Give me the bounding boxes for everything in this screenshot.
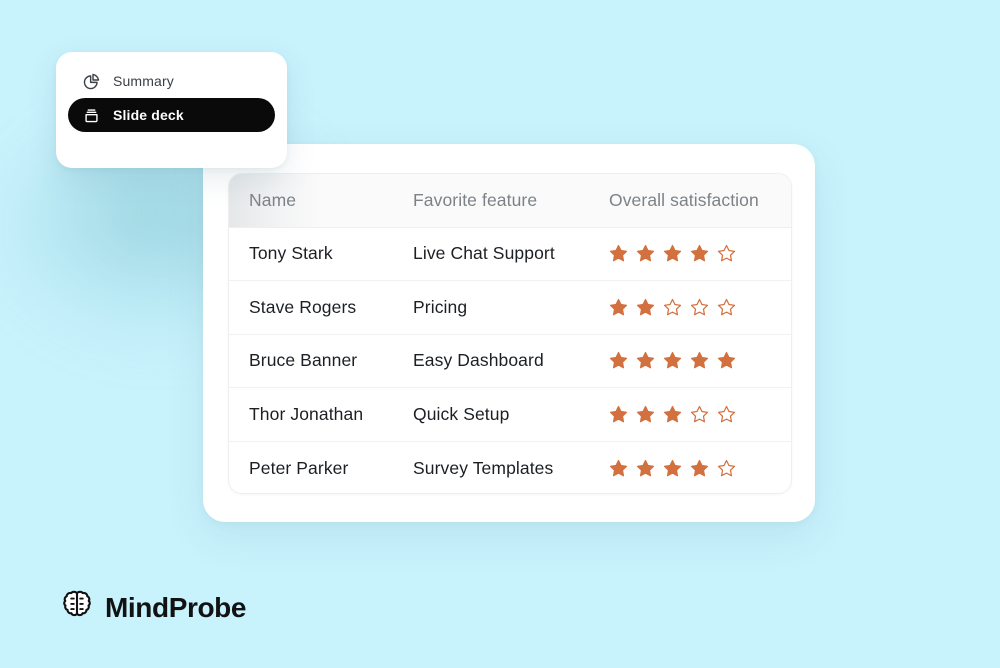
brain-icon [62, 589, 92, 626]
table-row[interactable]: Tony StarkLive Chat Support [229, 228, 791, 282]
table-row[interactable]: Bruce BannerEasy Dashboard [229, 335, 791, 389]
star-filled-icon [609, 459, 628, 478]
star-filled-icon [636, 405, 655, 424]
cell-feature: Live Chat Support [413, 243, 609, 264]
star-filled-icon [609, 298, 628, 317]
cell-name: Thor Jonathan [229, 404, 413, 425]
cell-rating [609, 298, 791, 317]
cell-feature: Pricing [413, 297, 609, 318]
star-empty-icon [717, 244, 736, 263]
table-row[interactable]: Peter ParkerSurvey Templates [229, 442, 791, 495]
respondent-name: Thor Jonathan [249, 404, 363, 424]
brand-logo: MindProbe [62, 589, 246, 626]
cell-name: Stave Rogers [229, 297, 413, 318]
table-row[interactable]: Thor JonathanQuick Setup [229, 388, 791, 442]
column-header-name: Name [229, 190, 413, 211]
star-filled-icon [690, 351, 709, 370]
dropdown-item-label: Slide deck [113, 107, 184, 123]
cell-name: Tony Stark [229, 243, 413, 264]
cell-rating [609, 351, 791, 370]
star-filled-icon [636, 459, 655, 478]
cell-name: Bruce Banner [229, 350, 413, 371]
respondent-name: Tony Stark [249, 243, 333, 263]
favorite-feature: Pricing [413, 297, 467, 317]
star-empty-icon [717, 298, 736, 317]
star-filled-icon [690, 459, 709, 478]
star-filled-icon [663, 351, 682, 370]
dropdown-item-summary[interactable]: Summary [68, 64, 275, 98]
star-filled-icon [609, 244, 628, 263]
favorite-feature: Easy Dashboard [413, 350, 544, 370]
dropdown-item-list: SummarySlide deck [68, 64, 275, 132]
star-filled-icon [636, 244, 655, 263]
star-empty-icon [690, 405, 709, 424]
star-filled-icon [609, 351, 628, 370]
cell-feature: Quick Setup [413, 404, 609, 425]
cell-rating [609, 405, 791, 424]
cell-feature: Easy Dashboard [413, 350, 609, 371]
star-rating [609, 351, 791, 370]
star-empty-icon [717, 459, 736, 478]
star-rating [609, 459, 791, 478]
star-filled-icon [663, 459, 682, 478]
star-rating [609, 405, 791, 424]
column-header-feature: Favorite feature [413, 190, 609, 211]
respondent-name: Stave Rogers [249, 297, 356, 317]
favorite-feature: Quick Setup [413, 404, 509, 424]
pie-chart-icon [82, 72, 101, 91]
respondent-name: Peter Parker [249, 458, 348, 478]
table-row[interactable]: Stave RogersPricing [229, 281, 791, 335]
table-body: Tony StarkLive Chat SupportStave RogersP… [229, 228, 791, 495]
star-filled-icon [636, 298, 655, 317]
cell-rating [609, 244, 791, 263]
star-filled-icon [717, 351, 736, 370]
respondent-name: Bruce Banner [249, 350, 357, 370]
column-header-satisfaction: Overall satisfaction [609, 190, 791, 211]
favorite-feature: Survey Templates [413, 458, 553, 478]
star-filled-icon [663, 244, 682, 263]
star-rating [609, 298, 791, 317]
star-empty-icon [663, 298, 682, 317]
star-rating [609, 244, 791, 263]
dropdown-item-label: Summary [113, 73, 174, 89]
table-header-row: Name Favorite feature Overall satisfacti… [229, 174, 791, 228]
box-stack-icon [82, 106, 101, 125]
star-empty-icon [717, 405, 736, 424]
star-filled-icon [663, 405, 682, 424]
survey-results-table: Name Favorite feature Overall satisfacti… [228, 173, 792, 494]
brand-name: MindProbe [105, 592, 246, 624]
dropdown-item-slide-deck[interactable]: Slide deck [68, 98, 275, 132]
view-mode-dropdown: SummarySlide deck [56, 52, 287, 168]
star-filled-icon [636, 351, 655, 370]
favorite-feature: Live Chat Support [413, 243, 555, 263]
cell-rating [609, 459, 791, 478]
star-filled-icon [609, 405, 628, 424]
cell-name: Peter Parker [229, 458, 413, 479]
cell-feature: Survey Templates [413, 458, 609, 479]
star-filled-icon [690, 244, 709, 263]
star-empty-icon [690, 298, 709, 317]
